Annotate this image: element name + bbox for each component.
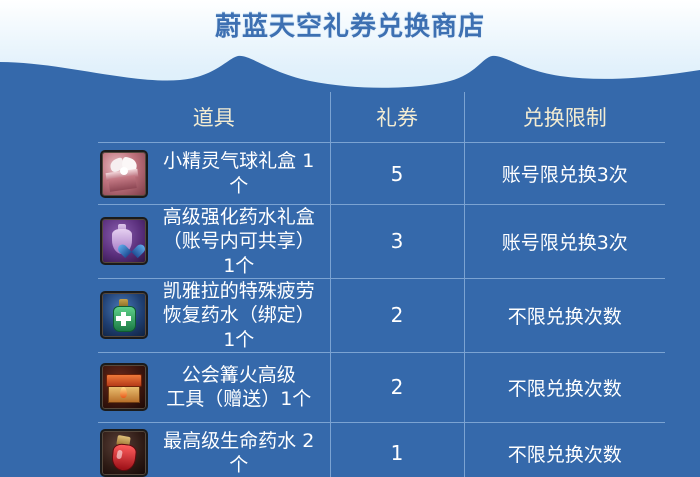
item-cell: 最高级生命药水 2个	[98, 422, 330, 477]
item-name: 最高级生命药水 2个	[158, 429, 330, 477]
price-cell: 2	[330, 352, 464, 422]
item-name: 凯雅拉的特殊疲劳 恢复药水（绑定）1个	[158, 279, 330, 352]
item-cell: 高级强化药水礼盒 （账号内可共享）1个	[98, 205, 330, 279]
price-cell: 2	[330, 278, 464, 352]
limit-cell: 不限兑换次数	[464, 422, 665, 477]
item-name: 公会篝火高级 工具（赠送）1个	[158, 363, 330, 412]
item-name: 高级强化药水礼盒 （账号内可共享）1个	[158, 205, 330, 278]
column-header-limit: 兑换限制	[464, 92, 665, 143]
exchange-table: 道具 礼券 兑换限制 小精灵气球礼盒 1个	[98, 92, 665, 477]
table-row[interactable]: 高级强化药水礼盒 （账号内可共享）1个 3 账号限兑换3次	[98, 205, 665, 279]
red-potion-icon	[100, 429, 148, 477]
table-head: 道具 礼券 兑换限制	[98, 92, 665, 143]
exchange-table-wrap: 道具 礼券 兑换限制 小精灵气球礼盒 1个	[98, 92, 665, 477]
limit-cell: 不限兑换次数	[464, 352, 665, 422]
limit-cell: 账号限兑换3次	[464, 205, 665, 279]
table-row[interactable]: 公会篝火高级 工具（赠送）1个 2 不限兑换次数	[98, 352, 665, 422]
gift-box-icon	[100, 150, 148, 198]
column-header-item: 道具	[98, 92, 330, 143]
table-body: 小精灵气球礼盒 1个 5 账号限兑换3次 高级强化药水礼盒 （账号内可共享）1个	[98, 143, 665, 477]
column-header-price: 礼券	[330, 92, 464, 143]
bonfire-crate-icon	[100, 363, 148, 411]
limit-cell: 不限兑换次数	[464, 278, 665, 352]
table-row[interactable]: 最高级生命药水 2个 1 不限兑换次数	[98, 422, 665, 477]
item-cell: 小精灵气球礼盒 1个	[98, 143, 330, 205]
item-name: 小精灵气球礼盒 1个	[158, 149, 330, 198]
page-title: 蔚蓝天空礼券兑换商店	[0, 6, 700, 43]
shop-page: 蔚蓝天空礼券兑换商店 道具 礼券 兑换限制	[0, 0, 700, 477]
price-cell: 3	[330, 205, 464, 279]
price-cell: 1	[330, 422, 464, 477]
item-cell: 公会篝火高级 工具（赠送）1个	[98, 352, 330, 422]
purple-potion-icon	[100, 217, 148, 265]
green-potion-icon	[100, 291, 148, 339]
limit-cell: 账号限兑换3次	[464, 143, 665, 205]
table-row[interactable]: 小精灵气球礼盒 1个 5 账号限兑换3次	[98, 143, 665, 205]
table-header-row: 道具 礼券 兑换限制	[98, 92, 665, 143]
table-row[interactable]: 凯雅拉的特殊疲劳 恢复药水（绑定）1个 2 不限兑换次数	[98, 278, 665, 352]
item-cell: 凯雅拉的特殊疲劳 恢复药水（绑定）1个	[98, 278, 330, 352]
price-cell: 5	[330, 143, 464, 205]
